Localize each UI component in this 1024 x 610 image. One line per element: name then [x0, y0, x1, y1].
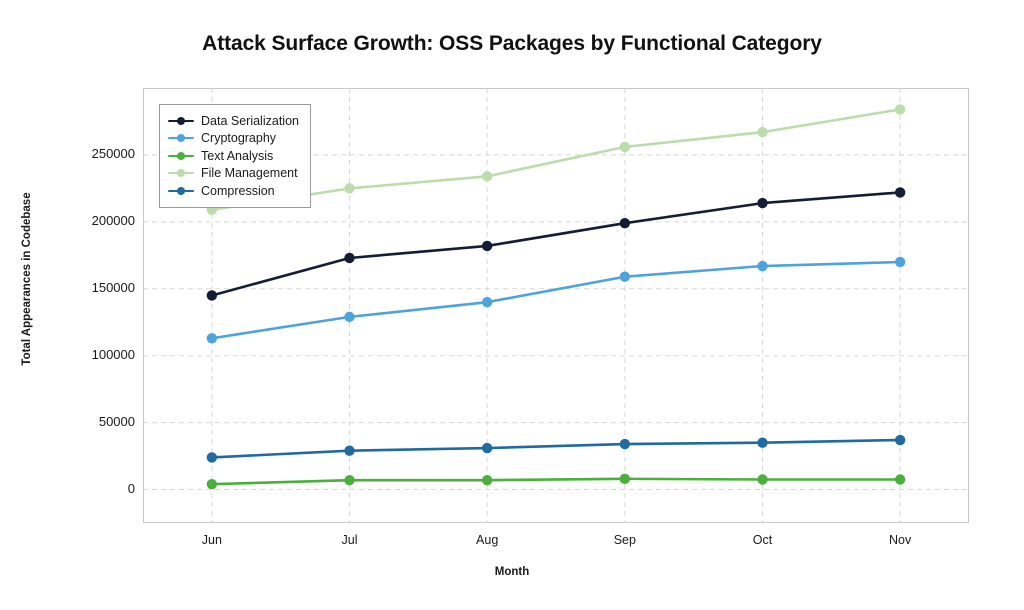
data-point — [482, 171, 492, 181]
data-point — [757, 437, 767, 447]
legend-item[interactable]: Data Serialization — [168, 112, 299, 130]
legend-item[interactable]: Cryptography — [168, 130, 299, 148]
data-point — [344, 475, 354, 485]
x-axis-tick-label: Aug — [447, 533, 527, 547]
data-point — [482, 443, 492, 453]
y-axis-tick-labels: 050000100000150000200000250000 — [43, 0, 135, 610]
y-axis-tick-label: 100000 — [45, 347, 135, 362]
data-point — [620, 272, 630, 282]
series-line — [212, 109, 900, 209]
data-point — [620, 439, 630, 449]
legend-marker-icon — [168, 132, 194, 144]
data-point — [620, 142, 630, 152]
chart-figure: Attack Surface Growth: OSS Packages by F… — [0, 0, 1024, 610]
data-point — [620, 474, 630, 484]
chart-legend: Data SerializationCryptographyText Analy… — [159, 104, 311, 208]
data-point — [757, 261, 767, 271]
y-axis-tick-label: 200000 — [45, 213, 135, 228]
y-axis-title: Total Appearances in Codebase — [21, 129, 33, 429]
x-axis-title: Month — [0, 566, 1024, 578]
y-axis-tick-label: 0 — [45, 481, 135, 496]
data-point — [207, 290, 217, 300]
data-point — [757, 198, 767, 208]
data-point — [482, 241, 492, 251]
x-axis-tick-label: Jun — [172, 533, 252, 547]
legend-marker-icon — [168, 185, 194, 197]
data-point — [207, 452, 217, 462]
legend-item[interactable]: Text Analysis — [168, 147, 299, 165]
data-point — [344, 253, 354, 263]
legend-marker-icon — [168, 150, 194, 162]
data-point — [895, 104, 905, 114]
data-point — [895, 257, 905, 267]
legend-marker-icon — [168, 167, 194, 179]
legend-marker-icon — [168, 115, 194, 127]
y-axis-tick-label: 250000 — [45, 146, 135, 161]
data-point — [207, 333, 217, 343]
x-axis-tick-label: Oct — [723, 533, 803, 547]
legend-item-label: File Management — [201, 167, 298, 180]
data-point — [895, 187, 905, 197]
y-axis-tick-label: 50000 — [45, 414, 135, 429]
data-point — [895, 474, 905, 484]
legend-item-label: Data Serialization — [201, 115, 299, 128]
data-point — [482, 475, 492, 485]
data-point — [757, 127, 767, 137]
series-line — [212, 479, 900, 484]
series-line — [212, 192, 900, 295]
x-axis-tick-label: Sep — [585, 533, 665, 547]
data-point — [482, 297, 492, 307]
x-axis-tick-label: Nov — [860, 533, 940, 547]
legend-item[interactable]: Compression — [168, 182, 299, 200]
data-point — [344, 312, 354, 322]
data-point — [344, 183, 354, 193]
legend-item-label: Cryptography — [201, 132, 276, 145]
x-axis-tick-label: Jul — [310, 533, 390, 547]
data-point — [757, 474, 767, 484]
series-line — [212, 440, 900, 457]
legend-item[interactable]: File Management — [168, 165, 299, 183]
data-point — [895, 435, 905, 445]
legend-item-label: Text Analysis — [201, 150, 273, 163]
series-line — [212, 262, 900, 338]
data-point — [620, 218, 630, 228]
legend-item-label: Compression — [201, 185, 275, 198]
chart-title: Attack Surface Growth: OSS Packages by F… — [0, 32, 1024, 56]
data-point — [207, 479, 217, 489]
y-axis-tick-label: 150000 — [45, 280, 135, 295]
data-point — [344, 446, 354, 456]
